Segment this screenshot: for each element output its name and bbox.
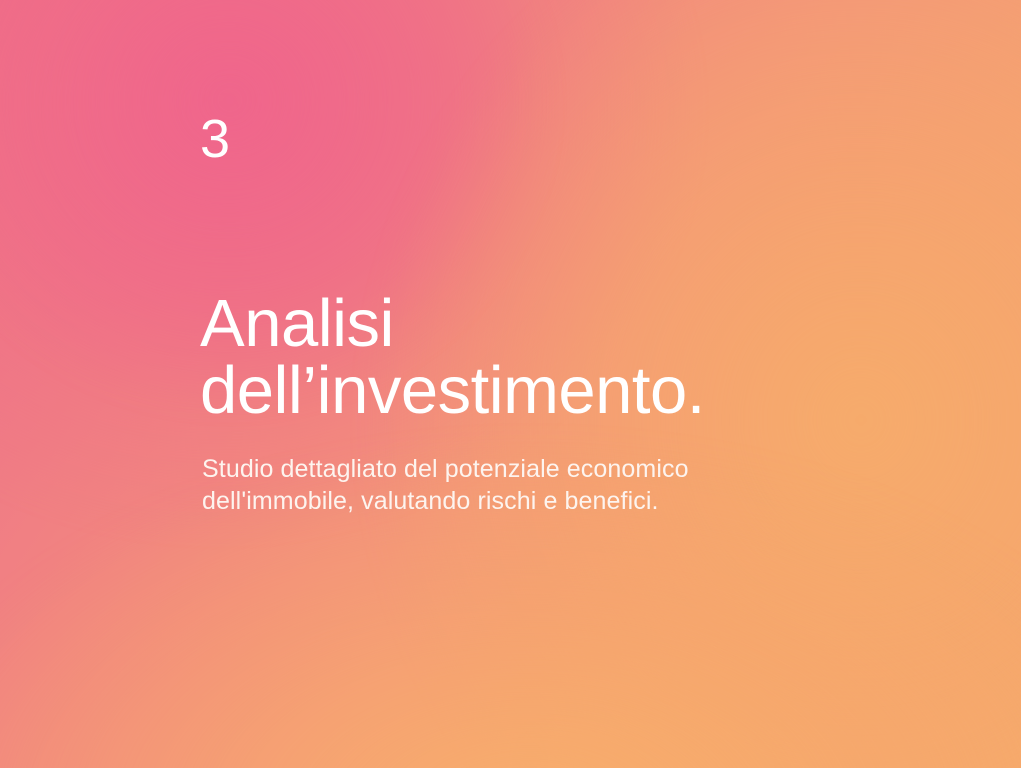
- slide-subtitle: Studio dettagliato del potenziale econom…: [202, 453, 822, 517]
- slide-title: Analisi dell’investimento.: [200, 290, 940, 424]
- slide-canvas: 3 Analisi dell’investimento. Studio dett…: [0, 0, 1021, 768]
- slide-content: 3 Analisi dell’investimento. Studio dett…: [200, 0, 960, 768]
- section-number: 3: [200, 112, 231, 166]
